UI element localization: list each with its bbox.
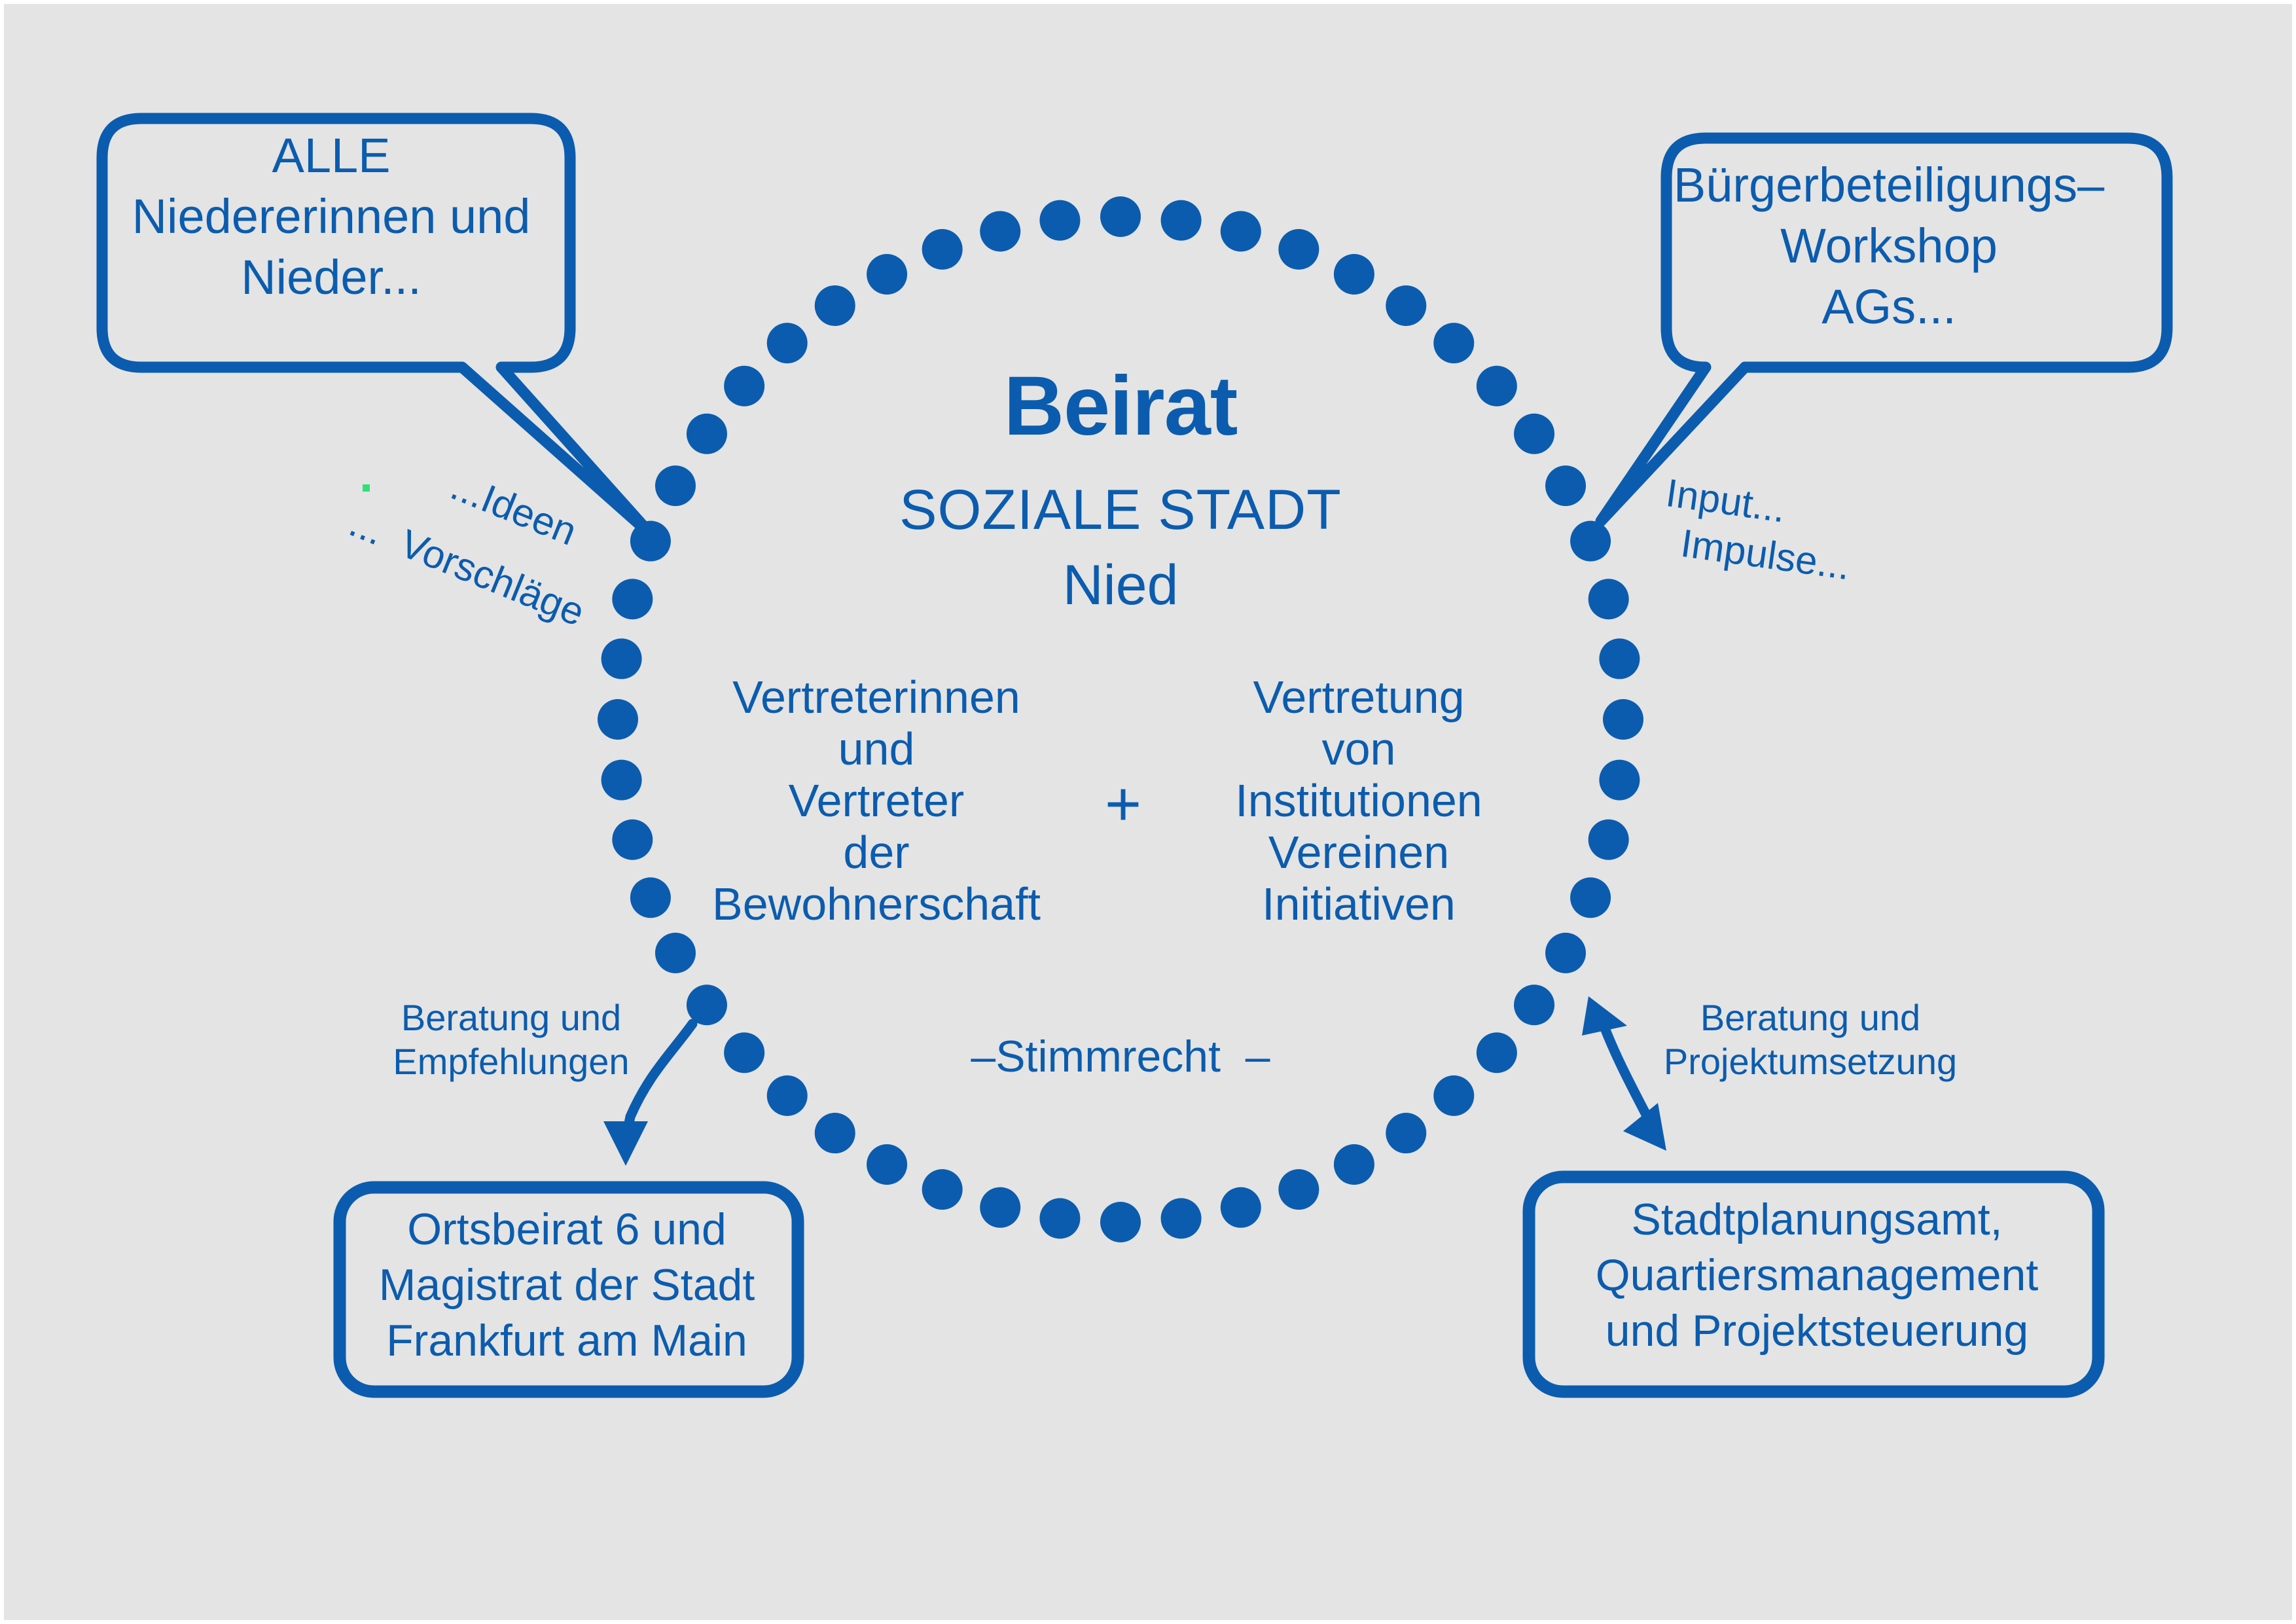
circle-dot — [980, 211, 1020, 251]
box-stadtplanungsamt-label: Stadtplanungsamt, Quartiersmanagement un… — [1529, 1192, 2105, 1359]
circle-dot — [1570, 877, 1611, 918]
circle-dot — [922, 1169, 963, 1210]
circle-dot — [1477, 366, 1517, 406]
circle-dot — [1334, 1144, 1374, 1185]
circle-dot — [1039, 200, 1080, 241]
circle-dot — [767, 1075, 808, 1116]
circle-dot — [1545, 933, 1586, 973]
circle-dot — [1545, 465, 1586, 506]
circle-dot — [980, 1187, 1020, 1228]
circle-dot — [598, 699, 638, 740]
circle-dot — [1100, 196, 1141, 237]
beirat-title: Beirat — [793, 359, 1448, 454]
circle-dot — [1477, 1032, 1517, 1073]
circle-dot — [815, 1113, 855, 1153]
circle-dot — [867, 254, 907, 295]
circle-dot — [1161, 200, 1202, 241]
circle-dot — [724, 1032, 764, 1073]
circle-dot — [1386, 1113, 1426, 1153]
circle-dot — [612, 820, 653, 860]
circle-dot — [1221, 211, 1261, 251]
circle-dot — [1100, 1202, 1141, 1242]
circle-dot — [655, 465, 696, 506]
plus-icon: + — [1077, 773, 1169, 836]
green-marker-dot — [363, 484, 370, 492]
circle-dot — [1161, 1198, 1202, 1238]
circle-dot — [1433, 1075, 1474, 1116]
circle-dot — [1433, 323, 1474, 363]
beirat-stimmrecht-note: –Stimmrecht – — [924, 1032, 1317, 1082]
circle-dot — [687, 414, 727, 454]
circle-dot — [1588, 820, 1629, 860]
annotation-beratung-empfehlungen: Beratung und Empfehlungen — [374, 996, 649, 1083]
circle-dot — [1278, 229, 1319, 270]
circle-dot — [612, 579, 653, 619]
circle-dot — [815, 285, 855, 326]
circle-dot — [601, 638, 642, 679]
circle-dot — [922, 229, 963, 270]
circle-dot — [1599, 760, 1640, 801]
circle-dot — [1334, 254, 1374, 295]
bubble-top-right-label: Bürgerbeteiligungs– Workshop AGs... — [1660, 154, 2118, 338]
circle-dot — [724, 366, 764, 406]
circle-dot — [1386, 285, 1426, 326]
circle-dot — [1039, 1198, 1080, 1238]
diagram-canvas: ALLE Niedererinnen und Nieder... Bürgerb… — [0, 0, 2296, 1624]
annotation-beratung-projektumsetzung: Beratung und Projektumsetzung — [1647, 996, 1974, 1083]
circle-dot — [1588, 579, 1629, 619]
circle-dot — [1603, 699, 1643, 740]
circle-dot — [1221, 1187, 1261, 1228]
circle-dot — [1514, 414, 1554, 454]
circle-dot — [1278, 1169, 1319, 1210]
circle-dot — [1514, 984, 1554, 1025]
beirat-subtitle-soziale-stadt: SOZIALE STADT — [793, 478, 1448, 542]
circle-dot — [1570, 521, 1611, 562]
circle-dot — [867, 1144, 907, 1185]
beirat-subtitle-nied: Nied — [793, 554, 1448, 617]
bubble-top-left-label: ALLE Niedererinnen und Nieder... — [102, 125, 560, 308]
circle-dot — [1599, 638, 1640, 679]
circle-dot — [630, 877, 671, 918]
circle-dot — [655, 933, 696, 973]
beirat-column-institutionen: Vertretung von Institutionen Vereinen In… — [1195, 672, 1522, 930]
circle-dot — [601, 760, 642, 801]
circle-dot — [767, 323, 808, 363]
beirat-column-bewohnerschaft: Vertreterinnen und Vertreter der Bewohne… — [696, 672, 1056, 930]
box-ortsbeirat-label: Ortsbeirat 6 und Magistrat der Stadt Fra… — [331, 1202, 802, 1369]
